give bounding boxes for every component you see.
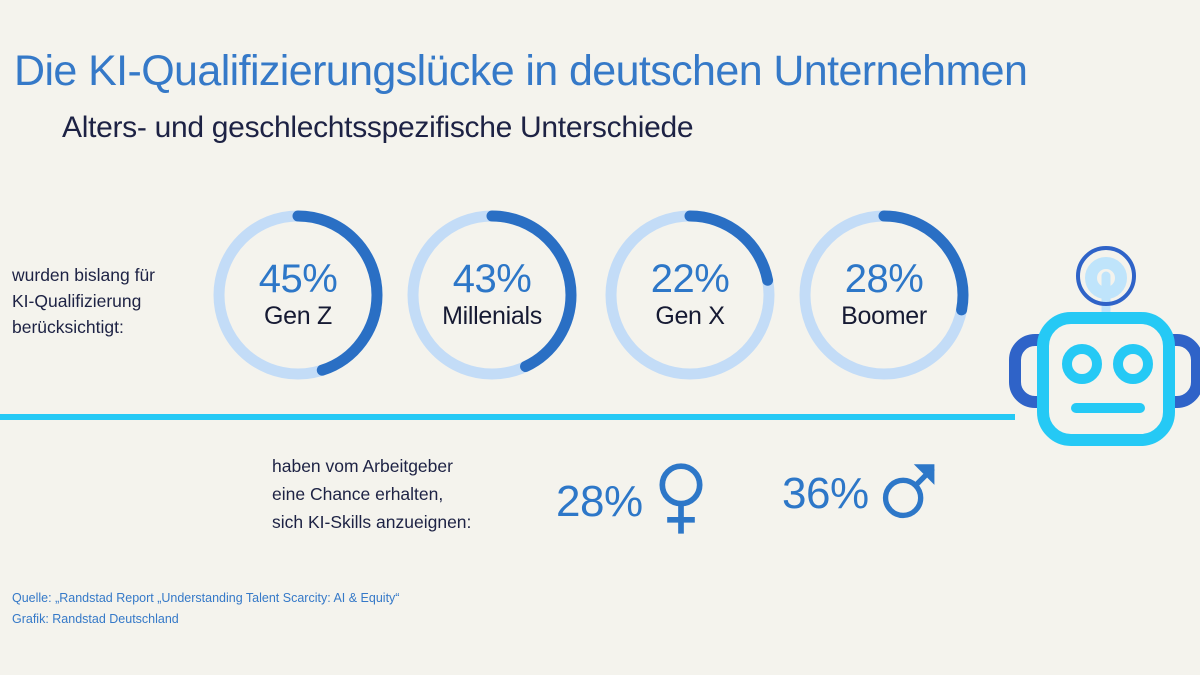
donut-label: Millenials [442,301,542,331]
section-divider [0,414,1015,420]
robot-head [1043,318,1169,440]
source-line-1: Quelle: „Randstad Report „Understanding … [12,588,399,609]
page-title: Die KI-Qualifizierungslücke in deutschen… [14,50,1027,93]
donut-millenials: 43% Millenials [404,207,580,383]
donut-value: 22% [651,259,730,299]
gender-value-male: 36% [782,472,869,516]
donut-label: Gen Z [264,301,332,331]
gender-stat-female: 28% [556,462,707,542]
age-caption-line-2: KI-Qualifizierung [12,288,222,314]
donut-gen-x: 22% Gen X [602,207,778,383]
infographic-canvas: Die KI-Qualifizierungslücke in deutschen… [0,0,1200,675]
gender-caption-line-3: sich KI-Skills anzueignen: [272,508,532,536]
male-symbol [881,462,939,525]
donut-track [413,216,571,374]
donut-value: 28% [845,259,924,299]
robot-icon [1009,236,1200,448]
gender-caption-line-2: eine Chance erhalten, [272,480,532,508]
female-symbol [655,462,707,542]
donut-label: Gen X [655,301,724,331]
donut-track [611,216,769,374]
source-note: Quelle: „Randstad Report „Understanding … [12,588,399,630]
age-section-caption: wurden bislang für KI-Qualifizierung ber… [12,262,222,340]
donut-gen-z: 45% Gen Z [210,207,386,383]
donut-value: 43% [453,259,532,299]
donut-boomer: 28% Boomer [796,207,972,383]
age-caption-line-3: berücksichtigt: [12,314,222,340]
gender-value-female: 28% [556,480,643,524]
page-subtitle: Alters- und geschlechtsspezifische Unter… [62,113,693,143]
donut-value: 45% [259,259,338,299]
donut-track [219,216,377,374]
donut-track [805,216,963,374]
gender-stat-male: 36% [782,462,939,525]
age-caption-line-1: wurden bislang für [12,262,222,288]
source-line-2: Grafik: Randstad Deutschland [12,609,399,630]
gender-section-caption: haben vom Arbeitgeber eine Chance erhalt… [272,452,532,536]
donut-label: Boomer [841,301,927,331]
gender-caption-line-1: haben vom Arbeitgeber [272,452,532,480]
